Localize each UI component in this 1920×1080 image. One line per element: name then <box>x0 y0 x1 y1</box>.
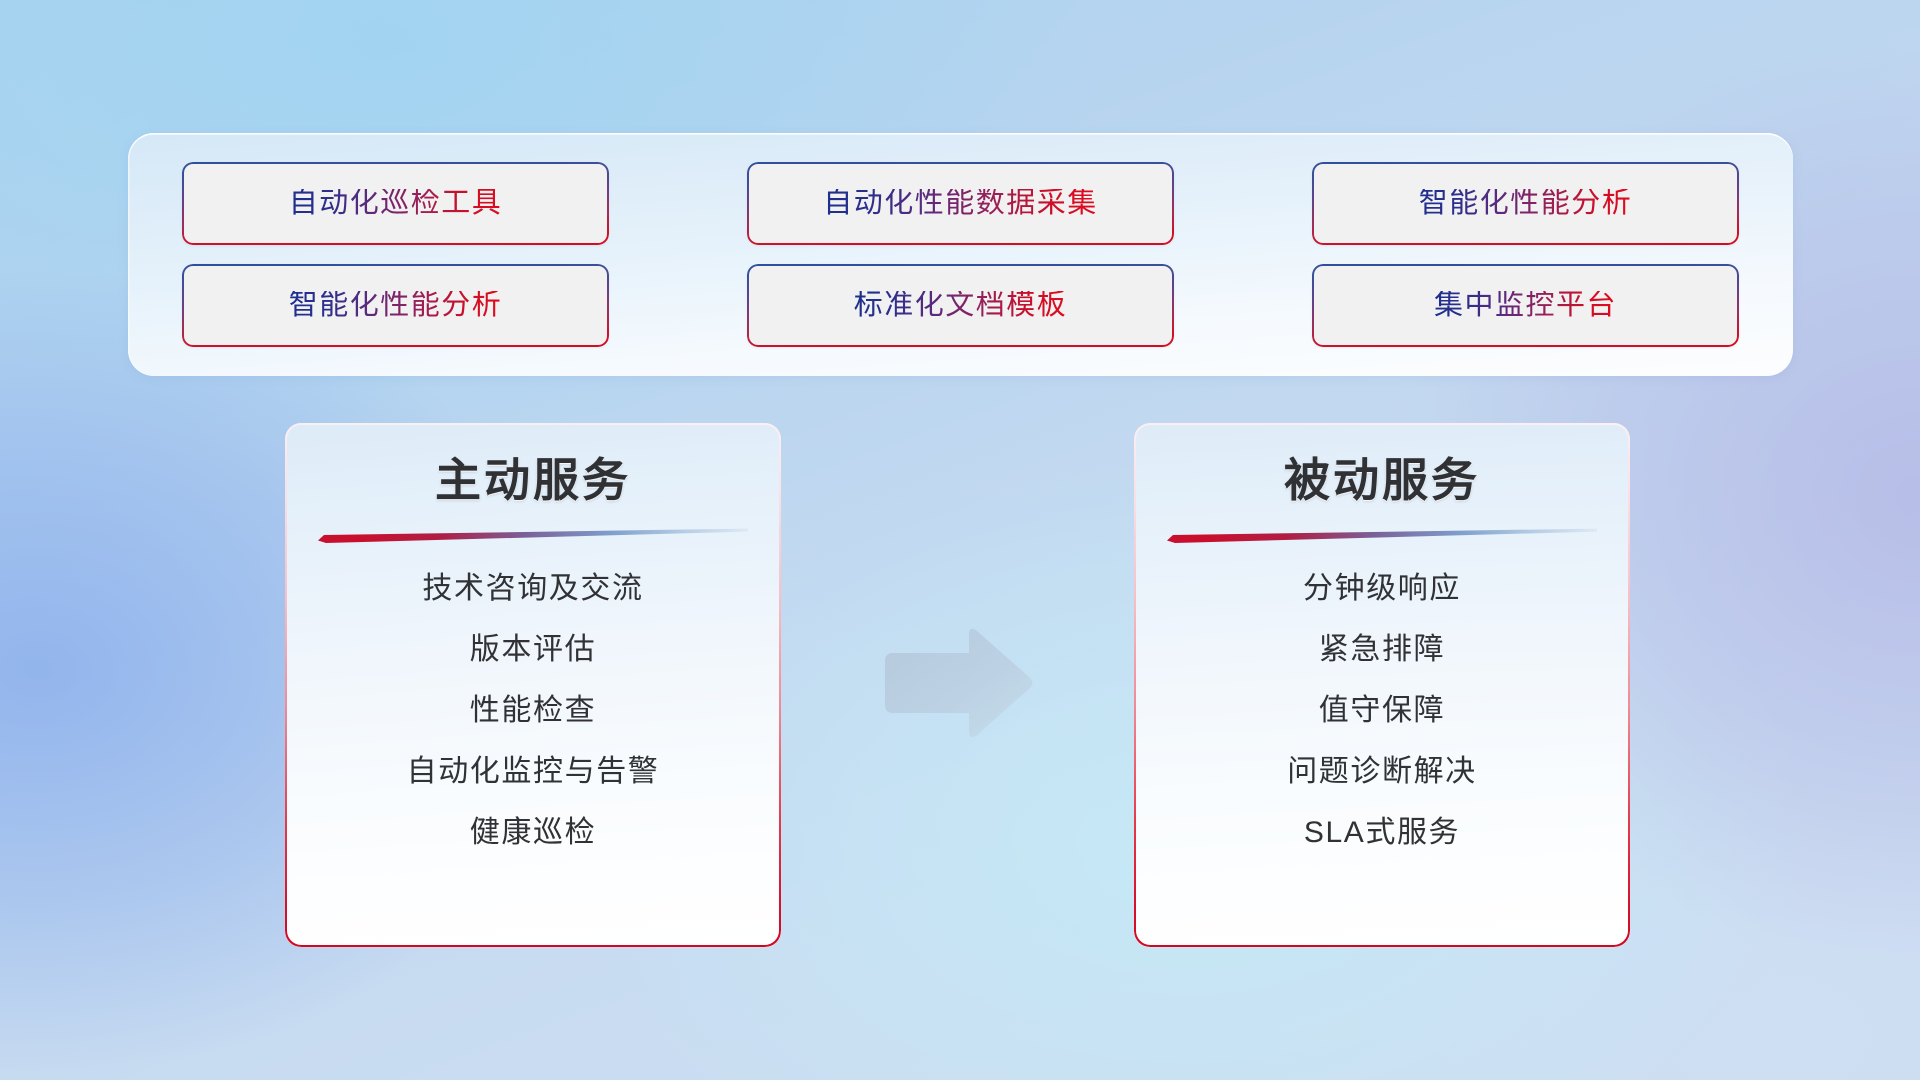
service-list-item: 版本评估 <box>470 632 596 668</box>
service-list-item: 性能检查 <box>470 693 596 729</box>
service-list-item: 分钟级响应 <box>1303 571 1461 607</box>
capability-pill[interactable]: 自动化性能数据采集 <box>747 162 1174 245</box>
capability-pill-label: 自动化性能数据采集 <box>823 189 1098 218</box>
capability-pill-label: 自动化巡检工具 <box>289 189 503 218</box>
title-divider <box>1167 527 1597 543</box>
arrow-right-icon <box>877 623 1037 743</box>
service-list-item: SLA式服务 <box>1304 815 1460 851</box>
service-card-title: 被动服务 <box>1284 455 1480 507</box>
service-card-body: 被动服务 分钟级响应 紧急排障 <box>1134 423 1630 947</box>
capability-pill-grid: 自动化巡检工具 自动化性能数据采集 智能化性能分析 智能化性能分析 标准化文档模… <box>128 133 1793 376</box>
capability-pill-label: 智能化性能分析 <box>289 291 503 320</box>
capability-pill[interactable]: 标准化文档模板 <box>747 264 1174 347</box>
capability-pill-label: 集中监控平台 <box>1434 291 1617 320</box>
title-divider <box>318 527 748 543</box>
capability-pill[interactable]: 集中监控平台 <box>1312 264 1739 347</box>
capability-pill[interactable]: 自动化巡检工具 <box>182 162 609 245</box>
service-list-item: 问题诊断解决 <box>1287 754 1477 790</box>
service-list-item: 健康巡检 <box>470 815 596 851</box>
service-list-item: 自动化监控与告警 <box>407 754 660 790</box>
capability-pill-label: 智能化性能分析 <box>1419 189 1633 218</box>
service-item-list: 技术咨询及交流 版本评估 性能检查 自动化监控与告警 健康巡检 <box>285 571 781 851</box>
service-card-passive: 被动服务 分钟级响应 紧急排障 <box>1134 423 1630 947</box>
capability-pill[interactable]: 智能化性能分析 <box>1312 162 1739 245</box>
service-list-item: 技术咨询及交流 <box>422 571 643 607</box>
capability-pill[interactable]: 智能化性能分析 <box>182 264 609 347</box>
service-card-title: 主动服务 <box>435 455 631 507</box>
service-item-list: 分钟级响应 紧急排障 值守保障 问题诊断解决 SLA式服务 <box>1134 571 1630 851</box>
service-card-active: 主动服务 技术咨询及交流 版本评估 <box>285 423 781 947</box>
capability-pill-label: 标准化文档模板 <box>854 291 1068 320</box>
service-list-item: 紧急排障 <box>1319 632 1445 668</box>
service-card-body: 主动服务 技术咨询及交流 版本评估 <box>285 423 781 947</box>
capability-panel: 自动化巡检工具 自动化性能数据采集 智能化性能分析 智能化性能分析 标准化文档模… <box>128 133 1793 376</box>
service-list-item: 值守保障 <box>1319 693 1445 729</box>
